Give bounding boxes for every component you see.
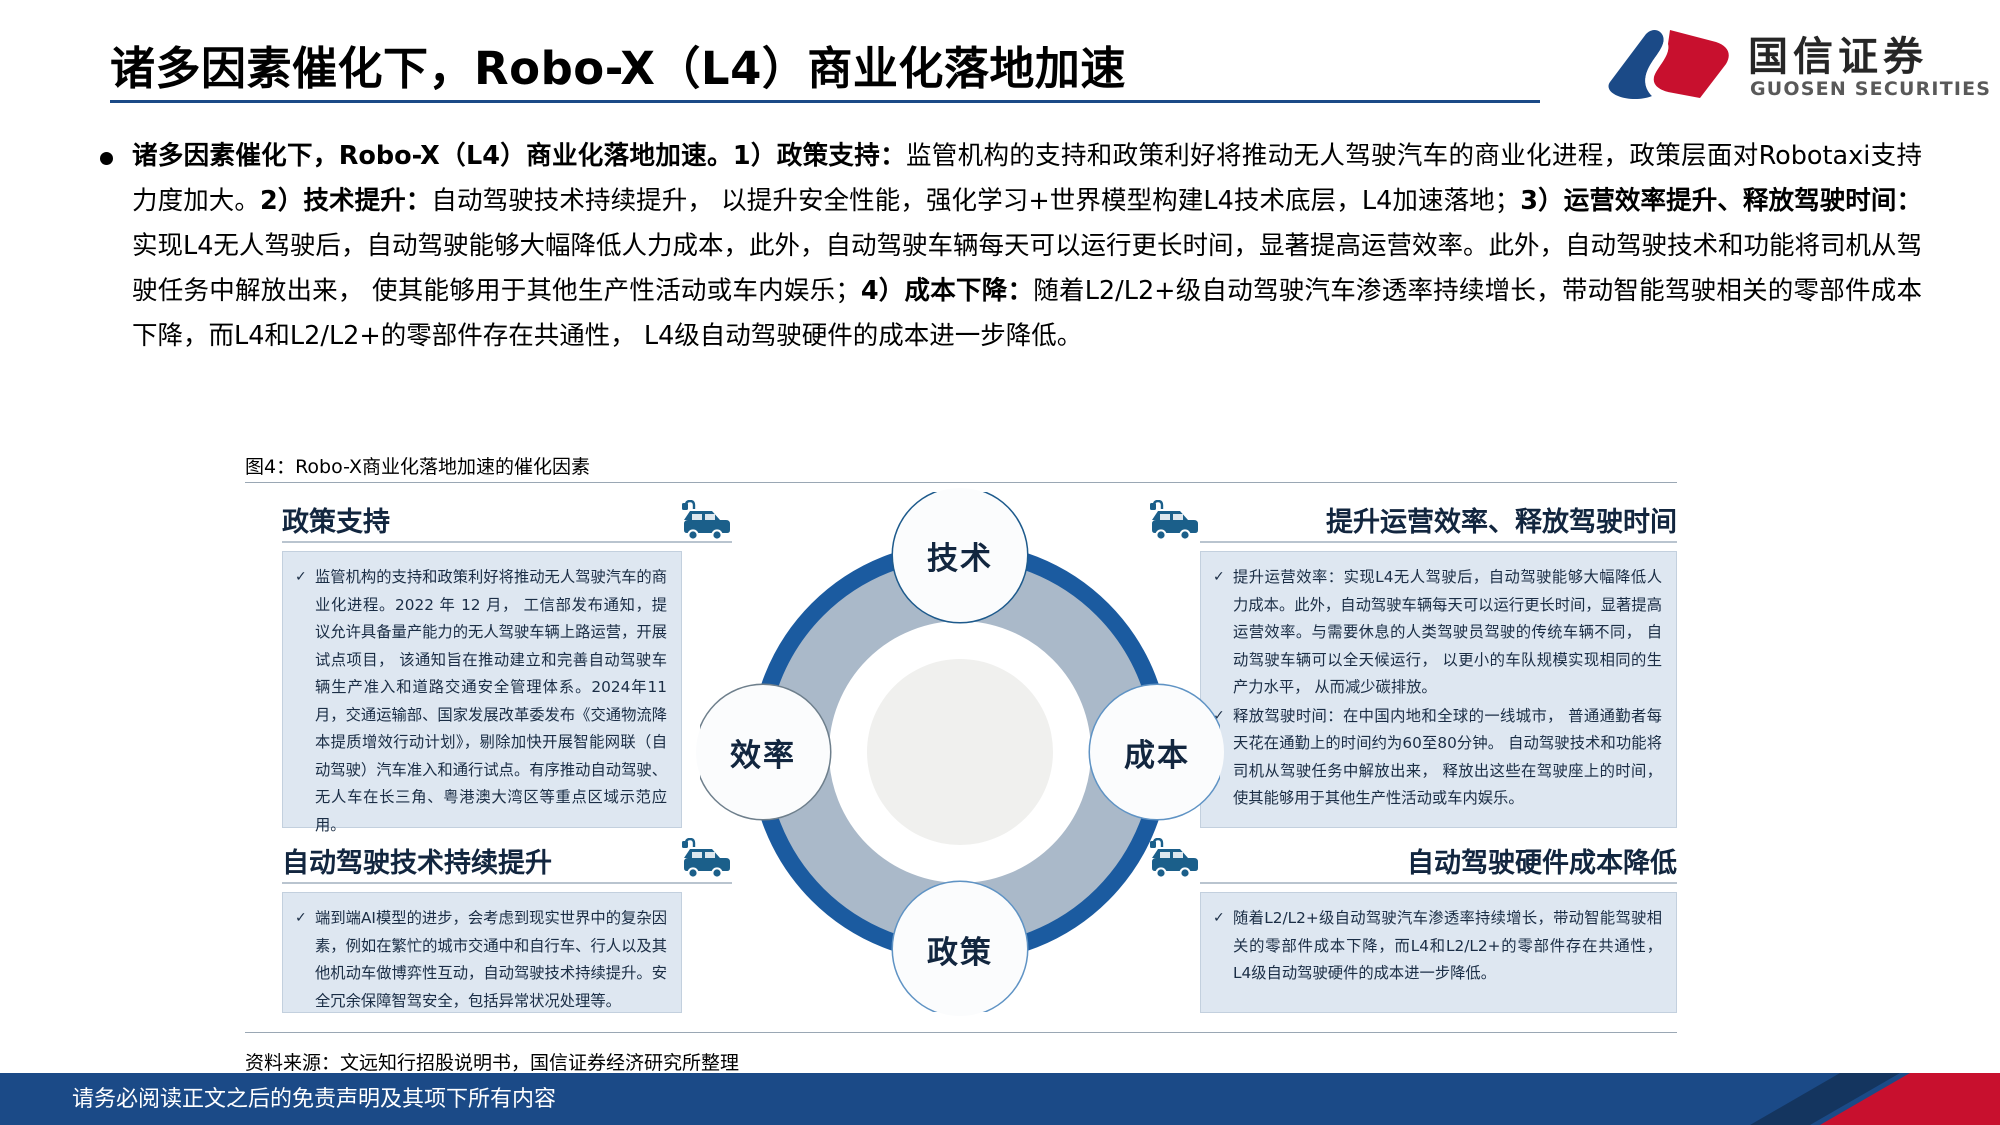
list-item: 监管机构的支持和政策利好将推动无人驾驶汽车的商业化进程。2022 年 12 月，… [295,564,667,839]
list-item: 提升运营效率：实现L4无人驾驶后，自动驾驶能够大幅降低人力成本。此外，自动驾驶车… [1213,564,1662,702]
page-title: 诸多因素催化下，Robo-X（L4）商业化落地加速 [110,32,1126,97]
bullet-point-icon [100,152,113,165]
title-divider [110,100,1540,103]
logo-text-en: GUOSEN SECURITIES [1750,78,1991,100]
footer-disclaimer: 请务必阅读正文之后的免责声明及其项下所有内容 [72,1081,556,1113]
paragraph-bold-run: 2）技术提升： [260,186,431,216]
panel-box-technology: 端到端AI模型的进步，会考虑到现实世界中的复杂因素，例如在繁忙的城市交通中和自行… [282,892,682,1013]
panel-box-efficiency: 提升运营效率：实现L4无人驾驶后，自动驾驶能够大幅降低人力成本。此外，自动驾驶车… [1200,551,1677,828]
paragraph-run: 自动驾驶技术持续提升， 以提升安全性能，强化学习+世界模型构建L4技术底层，L4… [431,186,1520,216]
panel-heading-policy: 政策支持 [282,500,390,539]
diagram-node-tech[interactable]: 技术 [893,488,1027,622]
figure-caption: 图4：Robo-X商业化落地加速的催化因素 [245,452,590,479]
panel-box-cost: 随着L2/L2+级自动驾驶汽车渗透率持续增长，带动智能驾驶相关的零部件成本下降，… [1200,892,1677,1013]
body-paragraph: 诸多因素催化下，Robo-X（L4）商业化落地加速。1）政策支持：监管机构的支持… [132,134,1922,359]
diagram-node-eff[interactable]: 效率 [696,685,830,819]
guosen-logo-mark [1608,26,1733,104]
panel-underline-policy [282,541,732,543]
panel-heading-cost: 自动驾驶硬件成本降低 [1407,841,1677,880]
panel-heading-technology: 自动驾驶技术持续提升 [282,841,552,880]
list-item: 随着L2/L2+级自动驾驶汽车渗透率持续增长，带动智能驾驶相关的零部件成本下降，… [1213,905,1662,988]
figure-bottom-rule [245,1032,1677,1033]
cycle-diagram: 技术 成本 政策 效率 [700,492,1220,1012]
company-logo: 国信证券 GUOSEN SECURITIES [1608,22,1958,108]
panel-underline-efficiency [1200,541,1677,543]
paragraph-bold-run: 4）成本下降： [861,276,1033,306]
logo-text-cn: 国信证券 [1748,24,1928,82]
panel-underline-cost [1200,882,1677,884]
panel-box-policy: 监管机构的支持和政策利好将推动无人驾驶汽车的商业化进程。2022 年 12 月，… [282,551,682,828]
panel-heading-efficiency: 提升运营效率、释放驾驶时间 [1326,500,1677,539]
paragraph-bold-run: 3）运营效率提升、释放驾驶时间： [1520,186,1922,216]
list-item: 释放驾驶时间：在中国内地和全球的一线城市， 普通通勤者每天花在通勤上的时间约为6… [1213,703,1662,813]
diagram-node-cost[interactable]: 成本 [1090,685,1224,819]
figure-source: 资料来源：文远知行招股说明书，国信证券经济研究所整理 [245,1048,739,1075]
list-item: 端到端AI模型的进步，会考虑到现实世界中的复杂因素，例如在繁忙的城市交通中和自行… [295,905,667,1015]
figure-top-rule [245,482,1677,483]
diagram-node-policy[interactable]: 政策 [893,882,1027,1016]
paragraph-bold-run: 诸多因素催化下，Robo-X（L4）商业化落地加速。1）政策支持： [132,141,906,171]
panel-underline-technology [282,882,732,884]
footer-accent-shape [1570,1073,2000,1125]
